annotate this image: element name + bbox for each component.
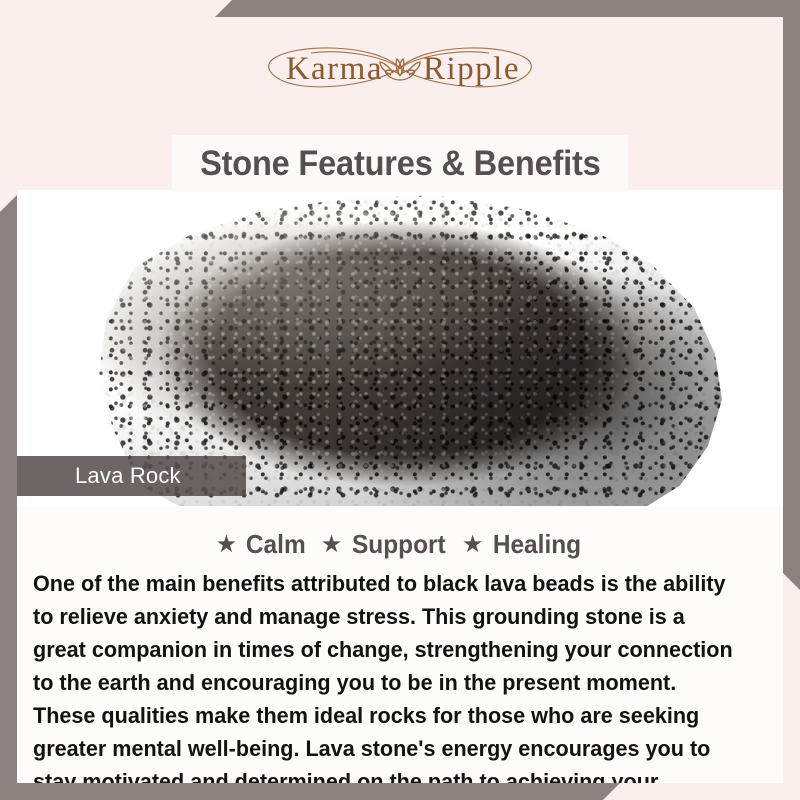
keyword-label: Calm xyxy=(246,529,306,560)
keyword-label: Support xyxy=(352,529,446,560)
photo-caption-label: Lava Rock xyxy=(17,463,181,489)
keyword-support: ★ Support xyxy=(321,529,449,560)
page-title: Stone Features & Benefits xyxy=(200,144,601,184)
keyword-healing: ★ Healing xyxy=(462,529,584,560)
brand-name-second: Ripple xyxy=(423,51,520,87)
star-icon: ★ xyxy=(321,533,343,557)
card-header: Karma Ripple xyxy=(17,17,783,130)
keyword-label: Healing xyxy=(493,529,581,560)
keyword-row: ★ Calm ★ Support ★ Healing xyxy=(17,506,783,560)
benefits-section: ★ Calm ★ Support ★ Healing One of the ma… xyxy=(17,506,783,783)
card-panel: Karma Ripple Stone Features & Benefits L… xyxy=(17,17,783,783)
title-band: Stone Features & Benefits xyxy=(172,135,628,192)
stone-photo: Lava Rock xyxy=(17,190,783,506)
keyword-calm: ★ Calm xyxy=(216,529,308,560)
frame-ribbon-left xyxy=(0,195,17,800)
star-icon: ★ xyxy=(462,533,484,557)
stone-feature-card: Karma Ripple Stone Features & Benefits L… xyxy=(0,0,800,800)
frame-ribbon-right xyxy=(783,0,800,590)
brand-name-first: Karma xyxy=(286,51,383,87)
frame-ribbon-top xyxy=(215,0,800,17)
photo-caption-band: Lava Rock xyxy=(17,456,246,496)
benefits-paragraph: One of the main benefits attributed to b… xyxy=(33,567,743,783)
brand-logo: Karma Ripple xyxy=(235,37,565,99)
star-icon: ★ xyxy=(216,533,238,557)
frame-ribbon-bottom xyxy=(0,783,620,800)
